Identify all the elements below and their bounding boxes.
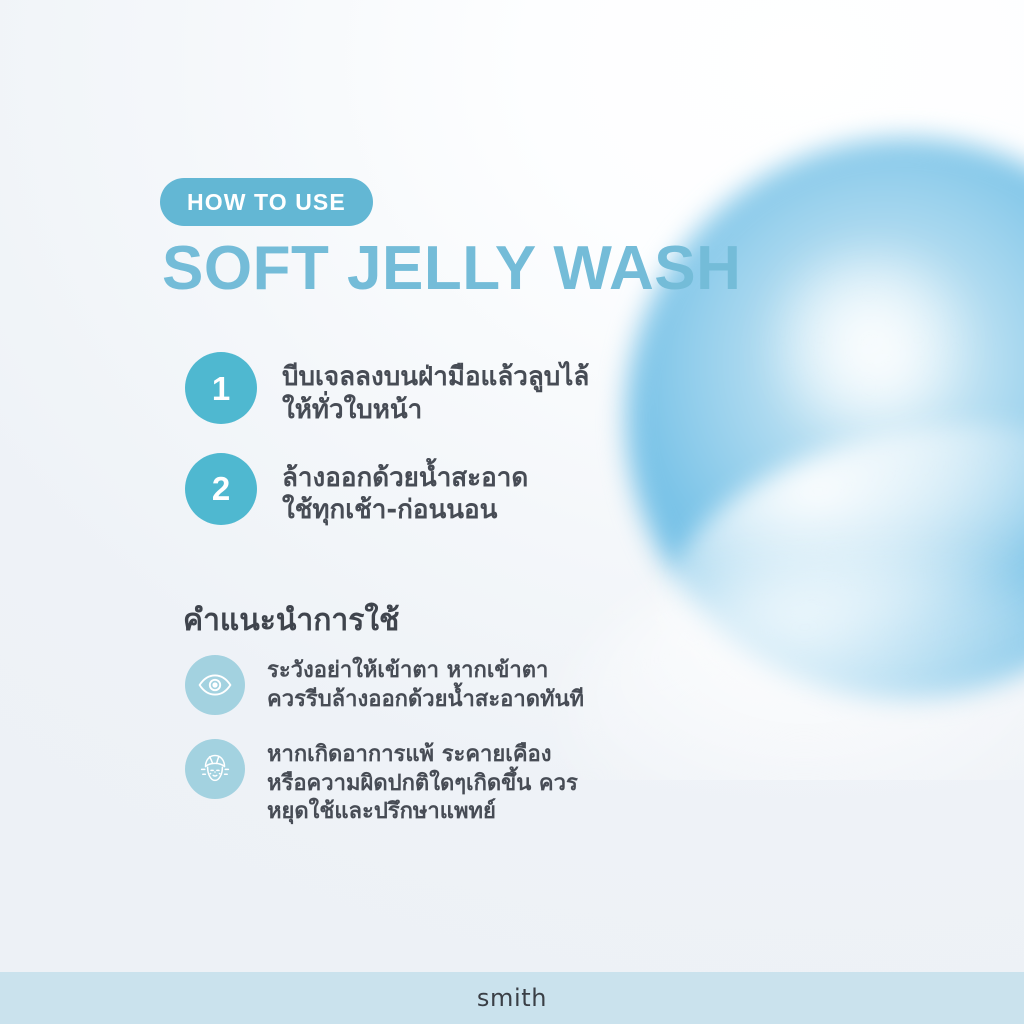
step-number-badge: 1 [185,352,257,424]
poster-canvas: HOW TO USE SOFT JELLY WASH 1 บีบเจลลงบนฝ… [0,0,1024,1024]
step-item: 2 ล้างออกด้วยน้ำสะอาด ใช้ทุกเช้า-ก่อนนอน [185,453,785,528]
step-item: 1 บีบเจลลงบนฝ่ามือแล้วลูบไล้ ให้ทั่วใบหน… [185,352,785,427]
brand-name: smith [477,984,547,1012]
content-column: HOW TO USE SOFT JELLY WASH 1 บีบเจลลงบนฝ… [160,0,800,1024]
sensitive-face-icon [185,739,245,799]
step-description: ล้างออกด้วยน้ำสะอาด ใช้ทุกเช้า-ก่อนนอน [282,453,528,528]
cautions-heading: คำแนะนำการใช้ [183,604,399,637]
eye-icon [185,655,245,715]
step-description: บีบเจลลงบนฝ่ามือแล้วลูบไล้ ให้ทั่วใบหน้า [282,352,589,427]
cautions-list: ระวังอย่าให้เข้าตา หากเข้าตา ควรรีบล้างอ… [185,655,795,851]
steps-list: 1 บีบเจลลงบนฝ่ามือแล้วลูบไล้ ให้ทั่วใบหน… [185,352,785,553]
caution-description: ระวังอย่าให้เข้าตา หากเข้าตา ควรรีบล้างอ… [267,655,584,714]
caution-item: หากเกิดอาการแพ้ ระคายเคือง หรือความผิดปก… [185,739,795,827]
how-to-use-badge: HOW TO USE [160,178,373,226]
footer-bar: smith [0,972,1024,1024]
page-title: SOFT JELLY WASH [162,238,741,300]
caution-item: ระวังอย่าให้เข้าตา หากเข้าตา ควรรีบล้างอ… [185,655,795,715]
caution-description: หากเกิดอาการแพ้ ระคายเคือง หรือความผิดปก… [267,739,578,827]
step-number-badge: 2 [185,453,257,525]
